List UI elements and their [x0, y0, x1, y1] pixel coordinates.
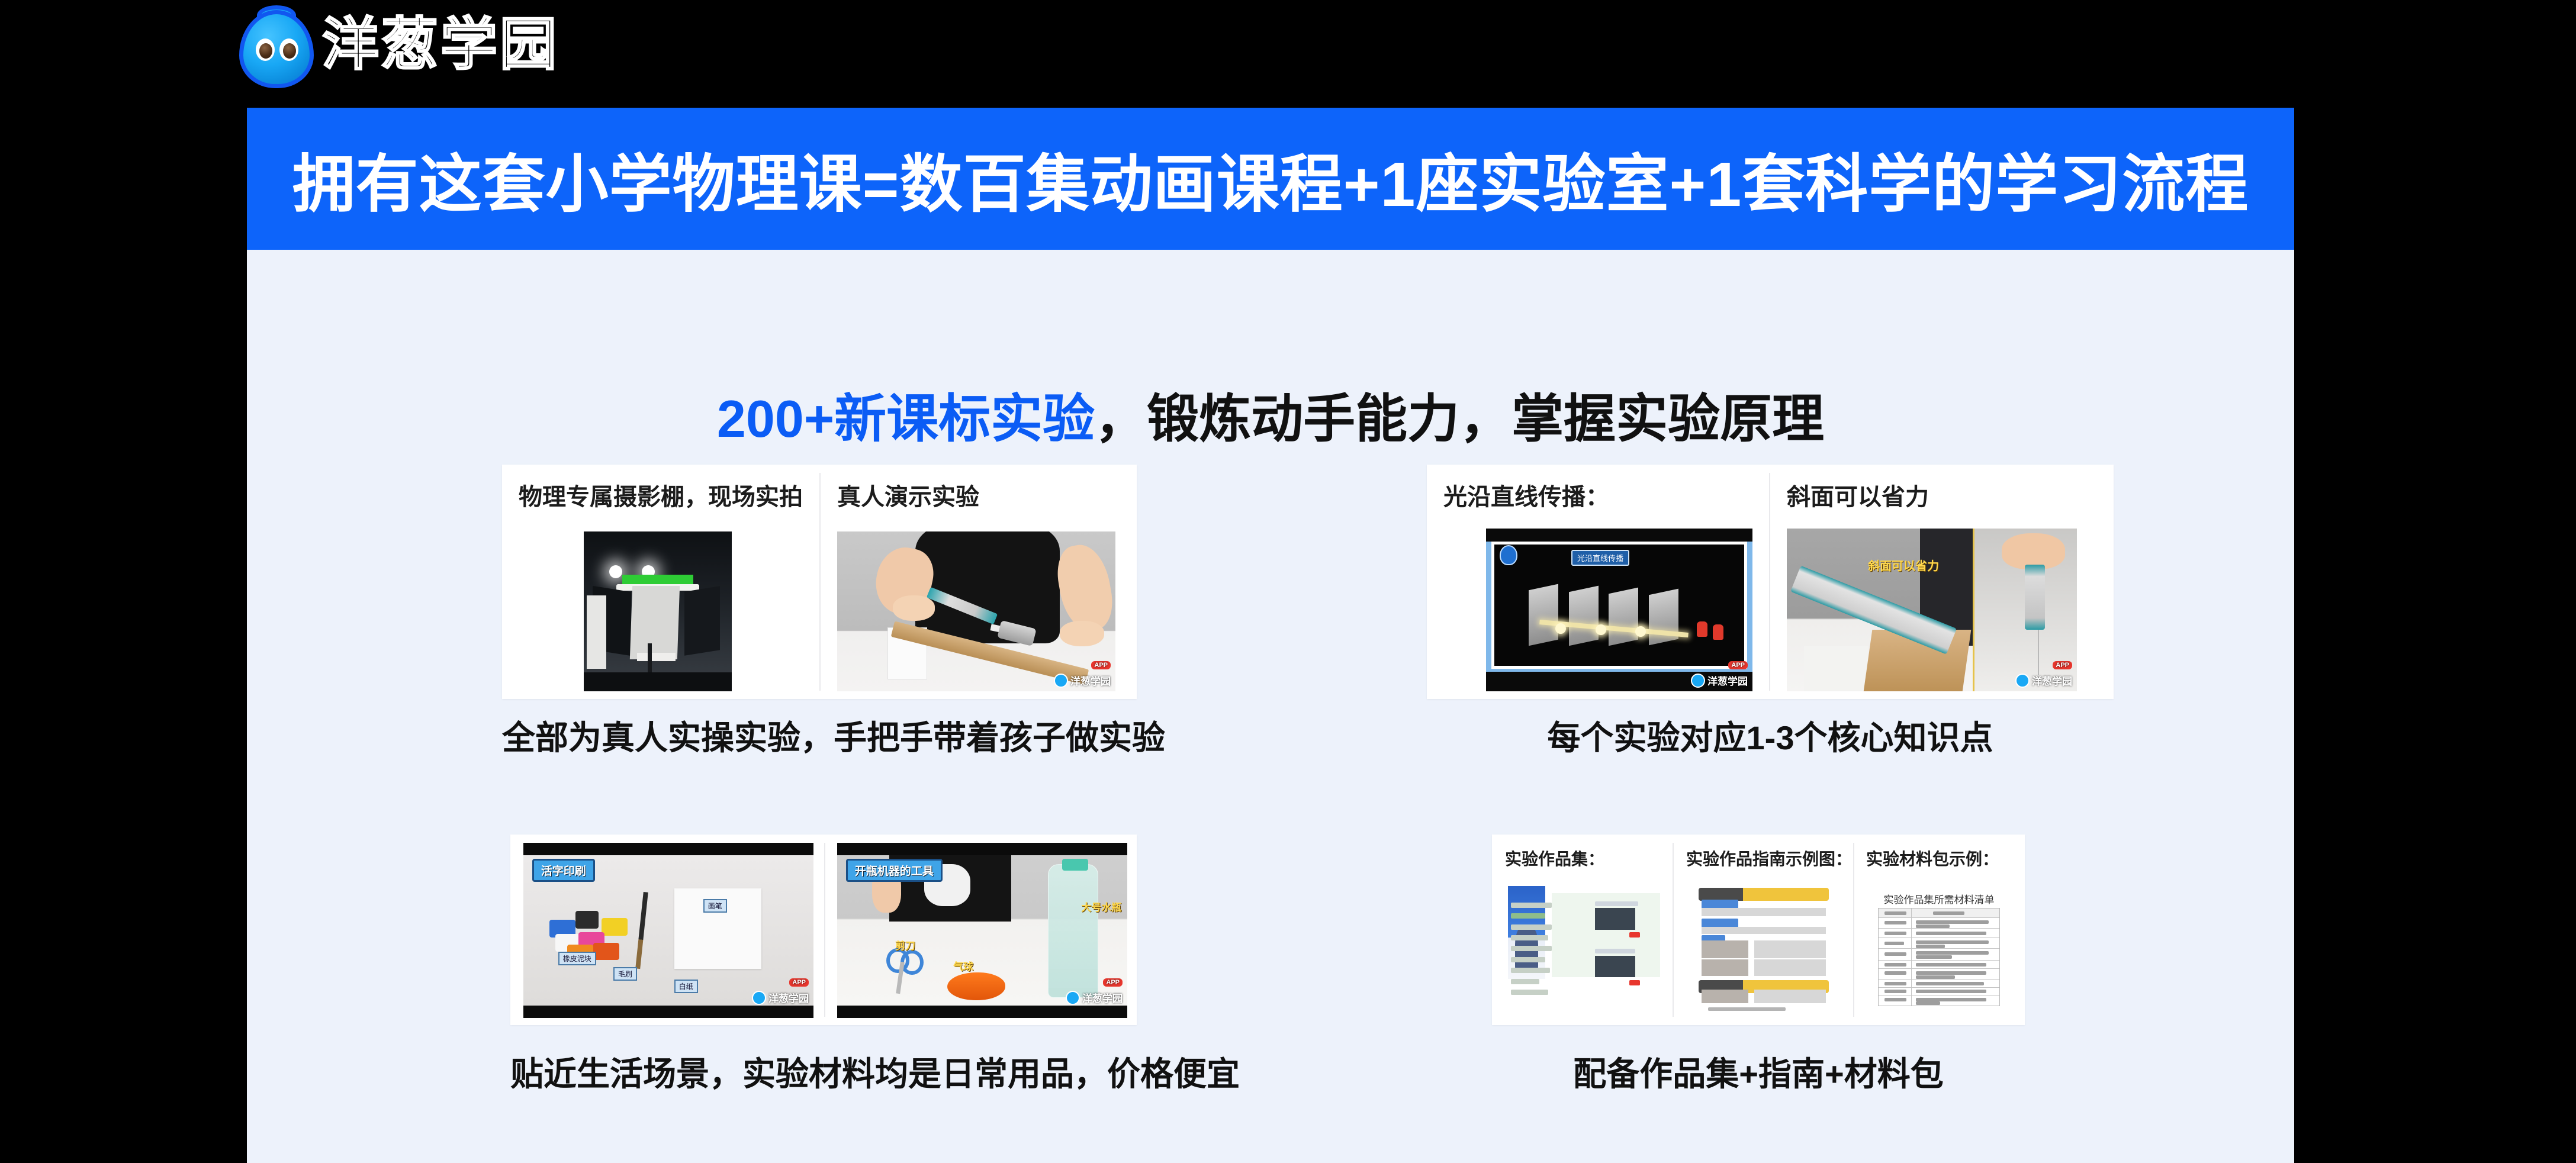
- photo-label-clay: 橡皮泥块: [558, 952, 596, 965]
- person-demo-inclined-plane-photo: APP 洋葱学园: [837, 531, 1115, 691]
- works-collection-screenshot: [1505, 881, 1660, 1017]
- panel-title-materials-kit: 实验材料包示例：: [1866, 846, 1999, 870]
- panel-title-light-propagation: 光沿直线传播：: [1443, 478, 1609, 512]
- inclined-plane-spring-scale-photo: 斜面可以省力 APP 洋葱学园: [1787, 529, 2077, 691]
- photo-label-bottle: 大号水瓶: [1081, 899, 1121, 914]
- photo-label-brush: 毛刷: [613, 967, 637, 981]
- watermark: APP 洋葱学园: [1066, 990, 1123, 1005]
- panel-title-works-guide: 实验作品指南示例图：: [1686, 846, 1852, 870]
- droplet-eye-left: [256, 38, 275, 61]
- caption-daily-materials: 贴近生活场景，实验材料均是日常用品，价格便宜: [510, 1048, 1137, 1096]
- materials-list-table-screenshot: 实验作品集所需材料清单: [1866, 881, 2012, 1017]
- card-kit-support: 实验作品集： 实验作品指南示例图：: [1492, 835, 2025, 1025]
- brand-name: 洋葱学园: [322, 17, 559, 77]
- droplet-eye-right: [279, 38, 298, 61]
- works-guide-screenshot: [1686, 881, 1841, 1017]
- photo-label-paintbrush: 画笔: [703, 899, 727, 913]
- overlay-tag-printing: 活字印刷: [532, 859, 595, 882]
- content-frame: 拥有这套小学物理课=数百集动画课程+1座实验室+1套科学的学习流程 200+新课…: [247, 108, 2294, 1163]
- watermark-droplet-icon: [1066, 991, 1080, 1005]
- watermark: APP 洋葱学园: [1691, 673, 1748, 688]
- materials-table-title: 实验作品集所需材料清单: [1866, 891, 2012, 906]
- panel-title-works-collection: 实验作品集：: [1505, 846, 1604, 870]
- caption-knowledge-points: 每个实验对应1-3个核心知识点: [1427, 711, 2114, 759]
- subtitle-rest: ，锻炼动手能力，掌握实验原理: [1095, 389, 1824, 448]
- movable-type-printing-photo: 活字印刷 画笔 橡皮泥块 毛刷 白纸 APP 洋葱学园: [523, 843, 813, 1018]
- bottle-tools-photo: 开瓶机器的工具 剪刀 气球 大号水瓶 APP 洋葱学园: [837, 843, 1127, 1018]
- overlay-tag-light: 光沿直线传播: [1571, 550, 1629, 566]
- watermark: APP 洋葱学园: [2015, 673, 2072, 688]
- caption-kit-support: 配备作品集+指南+材料包: [1492, 1048, 2025, 1096]
- panel-title-person-demo: 真人演示实验: [837, 478, 979, 512]
- watermark-droplet-icon: [1054, 674, 1068, 688]
- watermark-droplet-icon: [1691, 674, 1705, 688]
- physics-studio-photo: [584, 531, 732, 691]
- headline-text: 拥有这套小学物理课=数百集动画课程+1座实验室+1套科学的学习流程: [292, 133, 2249, 224]
- photo-label-balloon: 气球: [953, 958, 973, 973]
- panel-title-studio: 物理专属摄影棚，现场实拍: [519, 478, 803, 512]
- slide-canvas: 洋葱学园 拥有这套小学物理课=数百集动画课程+1座实验室+1套科学的学习流程 2…: [0, 0, 2576, 1163]
- overlay-tag-incline: 斜面可以省力: [1868, 556, 1939, 574]
- headline-banner: 拥有这套小学物理课=数百集动画课程+1座实验室+1套科学的学习流程: [247, 108, 2294, 250]
- photo-label-white-paper: 白纸: [674, 980, 698, 993]
- droplet-body: [239, 10, 314, 88]
- photo-label-scissors: 剪刀: [895, 938, 915, 952]
- watermark-droplet-icon: [752, 991, 766, 1005]
- subtitle-highlight: 200+新课标实验: [717, 389, 1095, 448]
- brand-logo: 洋葱学园: [239, 2, 559, 91]
- onion-droplet-mascot-icon: [239, 5, 314, 88]
- overlay-tag-tools: 开瓶机器的工具: [846, 859, 943, 882]
- caption-real-operation: 全部为真人实操实验，手把手带着孩子做实验: [502, 711, 1137, 759]
- watermark: APP 洋葱学园: [752, 990, 809, 1005]
- section-subtitle: 200+新课标实验，锻炼动手能力，掌握实验原理: [247, 377, 2294, 452]
- watermark: APP 洋葱学园: [1054, 673, 1111, 688]
- watermark-droplet-icon: [2015, 674, 2030, 688]
- card-knowledge-points: 光沿直线传播： 光沿直线传播 APP: [1427, 465, 2114, 699]
- panel-title-inclined-plane: 斜面可以省力: [1787, 478, 1929, 512]
- card-real-operation: 物理专属摄影棚，现场实拍 真人演示实验: [502, 465, 1137, 699]
- light-straight-line-animation: 光沿直线传播 APP 洋葱学园: [1486, 529, 1752, 691]
- card-daily-materials: 活字印刷 画笔 橡皮泥块 毛刷 白纸 APP 洋葱学园: [510, 835, 1137, 1025]
